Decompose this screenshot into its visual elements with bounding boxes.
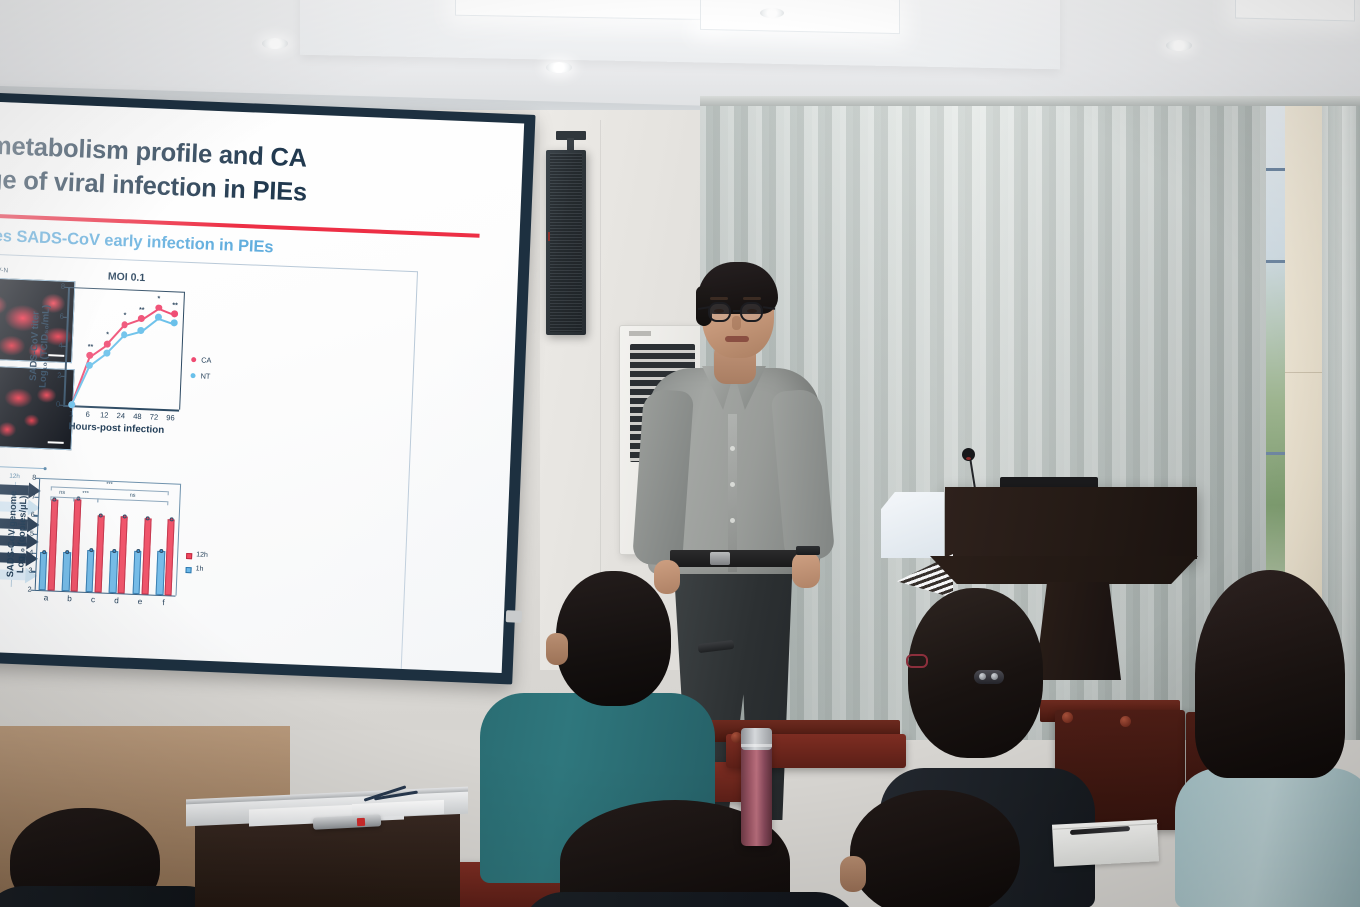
- downlight-3: [760, 8, 784, 18]
- chart-legend-marker: [191, 357, 196, 362]
- bar-column: [86, 550, 95, 592]
- presentation-slide: host BA metabolism profile and CA early …: [0, 101, 524, 673]
- attendee-light-blue-torso: [1175, 768, 1360, 907]
- presenter-right-hand: [792, 552, 820, 588]
- bar-right-spine: [176, 484, 182, 596]
- bar-scatter-point: [65, 550, 69, 554]
- presenter-shirt-placket: [728, 414, 737, 572]
- presenter-shirt-button-3: [730, 518, 735, 523]
- bar-scatter-point: [136, 549, 140, 553]
- chart-significance-marker: *: [101, 332, 113, 339]
- bar-scatter-point: [169, 517, 173, 521]
- chart-significance-marker: *: [119, 312, 131, 319]
- bar-scatter-point: [159, 549, 163, 553]
- bar-x-tick-label: f: [154, 598, 172, 608]
- screen-frame: host BA metabolism profile and CA early …: [0, 92, 536, 684]
- bar-significance-label: ***: [76, 490, 96, 497]
- bar-bracket-tick-left: [50, 496, 51, 500]
- chart-legend-label: NT: [200, 371, 210, 380]
- bar-column: [62, 552, 71, 591]
- chart-y-tick-label: 6: [53, 311, 64, 320]
- bar-column: [118, 517, 128, 594]
- chart-data-point: [171, 311, 178, 318]
- bar-x-tick-label: c: [84, 595, 102, 605]
- presenter-eyebrow-right: [743, 297, 761, 300]
- attendee-light-blue: [1175, 578, 1360, 907]
- chart-significance-marker: **: [169, 302, 181, 309]
- bar-column: [141, 519, 151, 595]
- phone-case-emblem: [357, 818, 365, 826]
- chart-line-segment: [71, 366, 91, 406]
- screen-surface: host BA metabolism profile and CA early …: [0, 101, 524, 673]
- presenter-shirt-button-2: [730, 482, 735, 487]
- bar-x-tick-label: b: [60, 594, 78, 604]
- bar-x-axis: [35, 590, 176, 597]
- chart-legend-label: CA: [201, 355, 212, 364]
- growth-curve-chart: 02468MOI 0.1SADS-CoV titerLog₁₀ (TCID₅₀/…: [26, 263, 233, 441]
- hair-clip-bead-1: [979, 673, 986, 680]
- chart-title: MOI 0.1: [68, 269, 184, 286]
- bar-legend-swatch: [186, 553, 192, 559]
- bar-column: [156, 551, 165, 595]
- bar-significance-label: ***: [99, 481, 119, 488]
- micrograph-label-n: SADS-CoV-N: [0, 266, 8, 275]
- projection-screen: host BA metabolism profile and CA early …: [0, 92, 536, 684]
- bar-column: [165, 520, 175, 596]
- podium-desktop: [945, 487, 1197, 559]
- chart-data-point: [87, 352, 94, 359]
- bar-significance-bracket: [97, 498, 167, 502]
- attendee-front-right-ear: [840, 856, 866, 892]
- attendee-teal-ear: [546, 633, 568, 665]
- presenter-eye-right: [747, 309, 757, 313]
- presenter-wristwatch: [796, 546, 820, 555]
- led-panel-light-3: [1235, 0, 1355, 21]
- presenter-mouth: [725, 336, 749, 342]
- attendee-front-right: [840, 760, 1080, 907]
- chart-significance-marker: **: [84, 344, 96, 351]
- attendee-front-right-head: [850, 790, 1020, 907]
- downlight-1: [262, 38, 288, 49]
- chart-data-point: [68, 401, 75, 408]
- presenter-eye-left: [714, 309, 724, 313]
- bar-column: [71, 499, 82, 592]
- bar-scatter-point: [112, 549, 116, 553]
- attendee-teal-head: [556, 571, 671, 706]
- bar-legend-label: 1h: [195, 566, 203, 573]
- chart-y-tick-label: 4: [52, 340, 63, 349]
- chart-data-point: [138, 315, 145, 322]
- bar-scatter-point: [89, 548, 93, 552]
- curtain-rail: [700, 96, 1360, 106]
- chart-x-axis-label: Hours-post infection: [48, 420, 184, 437]
- chart-y-tick-label: 2: [50, 370, 61, 379]
- bar-scatter-point: [122, 515, 126, 519]
- thermos-ring: [741, 744, 772, 747]
- chart-legend-marker: [190, 373, 195, 378]
- bar-x-tick-label: e: [131, 597, 149, 607]
- chart-data-point: [121, 321, 128, 328]
- attendee-front-center-torso: [520, 892, 860, 907]
- pillar-seam: [1285, 372, 1327, 373]
- bar-column: [39, 552, 48, 591]
- chart-top-spine: [68, 287, 184, 293]
- bar-column: [94, 516, 104, 593]
- bar-column: [47, 500, 58, 591]
- bar-bracket-tick-left: [97, 498, 98, 502]
- slide-title: host BA metabolism profile and CA early …: [0, 125, 467, 216]
- bar-significance-label: ns: [122, 492, 142, 499]
- bar-bracket-tick-right: [168, 491, 169, 495]
- chart-data-point: [86, 362, 93, 369]
- bar-bracket-tick-right: [167, 501, 168, 505]
- chart-data-point: [155, 314, 162, 321]
- bar-x-tick-label: d: [107, 596, 125, 606]
- bar-x-tick-label: a: [37, 593, 55, 603]
- attendee-front-center: [520, 800, 860, 907]
- chart-y-tick-label: 8: [54, 281, 65, 290]
- bar-bracket-tick-left: [74, 497, 75, 501]
- chart-data-point: [103, 349, 110, 356]
- presenter-shirt-button-1: [730, 446, 735, 451]
- chart-data-point: [171, 320, 178, 327]
- chair-knob-4: [1120, 716, 1131, 727]
- hair-clip-bead-2: [991, 673, 998, 680]
- conference-room-scene: host BA metabolism profile and CA early …: [0, 0, 1360, 907]
- chart-y-tick-label: 0: [49, 399, 60, 408]
- paper-on-podium: [881, 492, 944, 558]
- chart-data-point: [155, 304, 162, 311]
- downlight-4: [1166, 40, 1192, 51]
- podium-apron: [930, 556, 1198, 584]
- bar-column: [109, 551, 118, 593]
- speaker-grille: [550, 153, 582, 332]
- speaker-indicator-led: [548, 232, 550, 241]
- genome-copies-chart: 2345678SADS-CoV genomeLog₁₀ (copies/µL)a…: [4, 449, 225, 618]
- attendee-glasses-frame: [906, 654, 928, 668]
- bar-column: [133, 551, 142, 594]
- presenter-eyebrow-left: [710, 297, 728, 300]
- led-panel-light-2: [700, 0, 900, 34]
- chart-significance-marker: **: [136, 306, 148, 313]
- chart-data-point: [104, 340, 111, 347]
- chart-data-point: [137, 327, 144, 334]
- chart-x-tick-label: 96: [161, 413, 179, 423]
- bar-scatter-point: [42, 550, 46, 554]
- presenter-belt-buckle: [710, 552, 730, 565]
- column-speaker: [546, 150, 586, 335]
- chart-significance-marker: *: [153, 295, 165, 302]
- bar-legend-swatch: [185, 567, 191, 573]
- attendee-light-blue-head: [1195, 570, 1345, 778]
- downlight-2: [546, 62, 572, 73]
- presenter-nose: [732, 316, 741, 330]
- microphone-accent: [966, 457, 971, 460]
- bar-significance-label: ns: [52, 489, 72, 496]
- chart-data-point: [121, 331, 128, 338]
- bar-legend-label: 12h: [196, 552, 208, 559]
- glasses-bridge: [733, 310, 741, 312]
